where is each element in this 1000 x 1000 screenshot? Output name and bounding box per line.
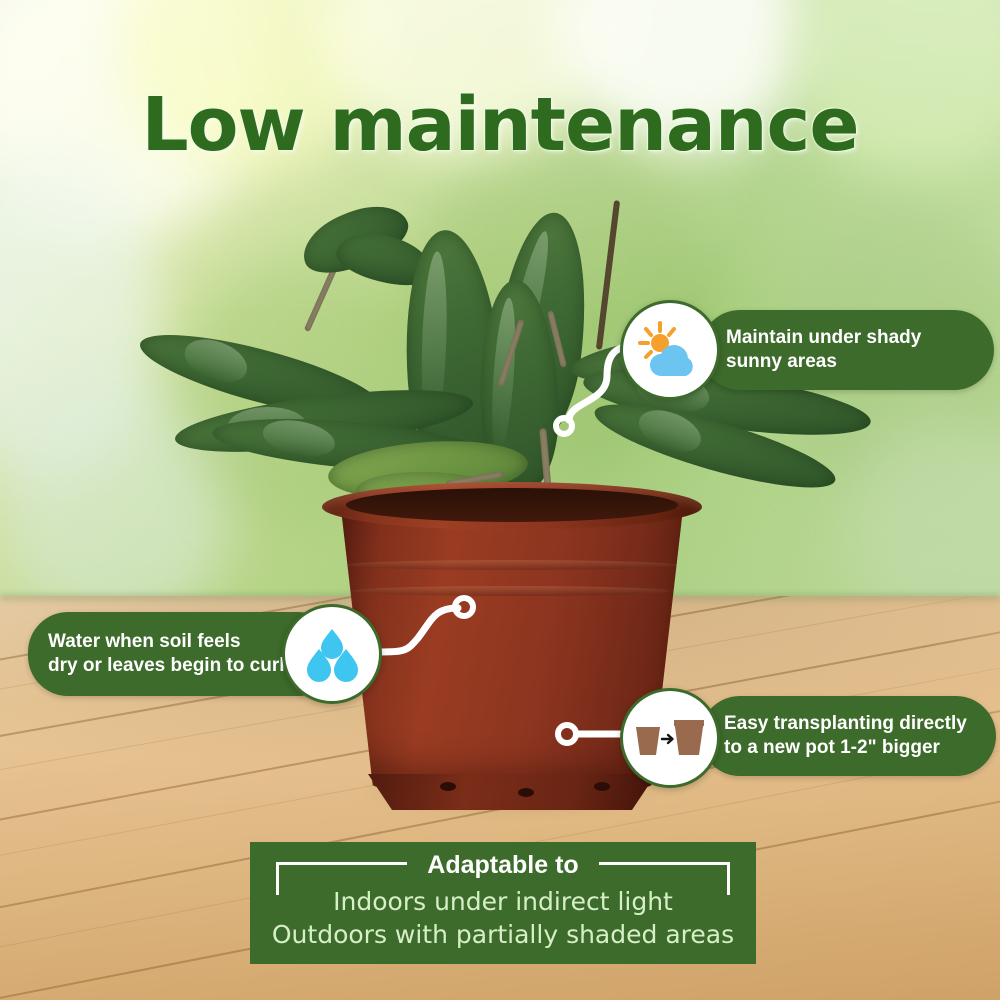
product-infographic: Low maintenance (0, 0, 1000, 1000)
adaptable-heading: Adaptable to (415, 851, 590, 880)
plant-stem (596, 200, 620, 350)
badge-watering[interactable] (282, 604, 382, 704)
water-drops-icon (301, 623, 363, 685)
badge-shady-sunny[interactable] (620, 300, 720, 400)
callout-transplanting[interactable]: Easy transplanting directly to a new pot… (700, 696, 996, 776)
callout-shady-sunny[interactable]: Maintain under shady sunny areas (700, 310, 994, 390)
badge-transplanting[interactable] (620, 688, 720, 788)
adaptable-line-outdoors: Outdoors with partially shaded areas (272, 918, 734, 951)
pot-base (362, 774, 662, 810)
sun-behind-cloud-icon (637, 320, 703, 380)
callout-watering-text: Water when soil feels dry or leaves begi… (48, 630, 285, 679)
bracket-left (276, 862, 407, 895)
page-title: Low maintenance (0, 82, 1000, 168)
two-pots-transplant-icon (634, 715, 706, 761)
callout-shady-sunny-text: Maintain under shady sunny areas (726, 326, 921, 375)
bracket-right (599, 862, 730, 895)
adaptable-heading-row: Adaptable to (250, 842, 756, 886)
callout-transplanting-text: Easy transplanting directly to a new pot… (724, 712, 967, 761)
adaptable-panel: Adaptable to Indoors under indirect ligh… (250, 842, 756, 964)
pot-soil (346, 488, 678, 522)
